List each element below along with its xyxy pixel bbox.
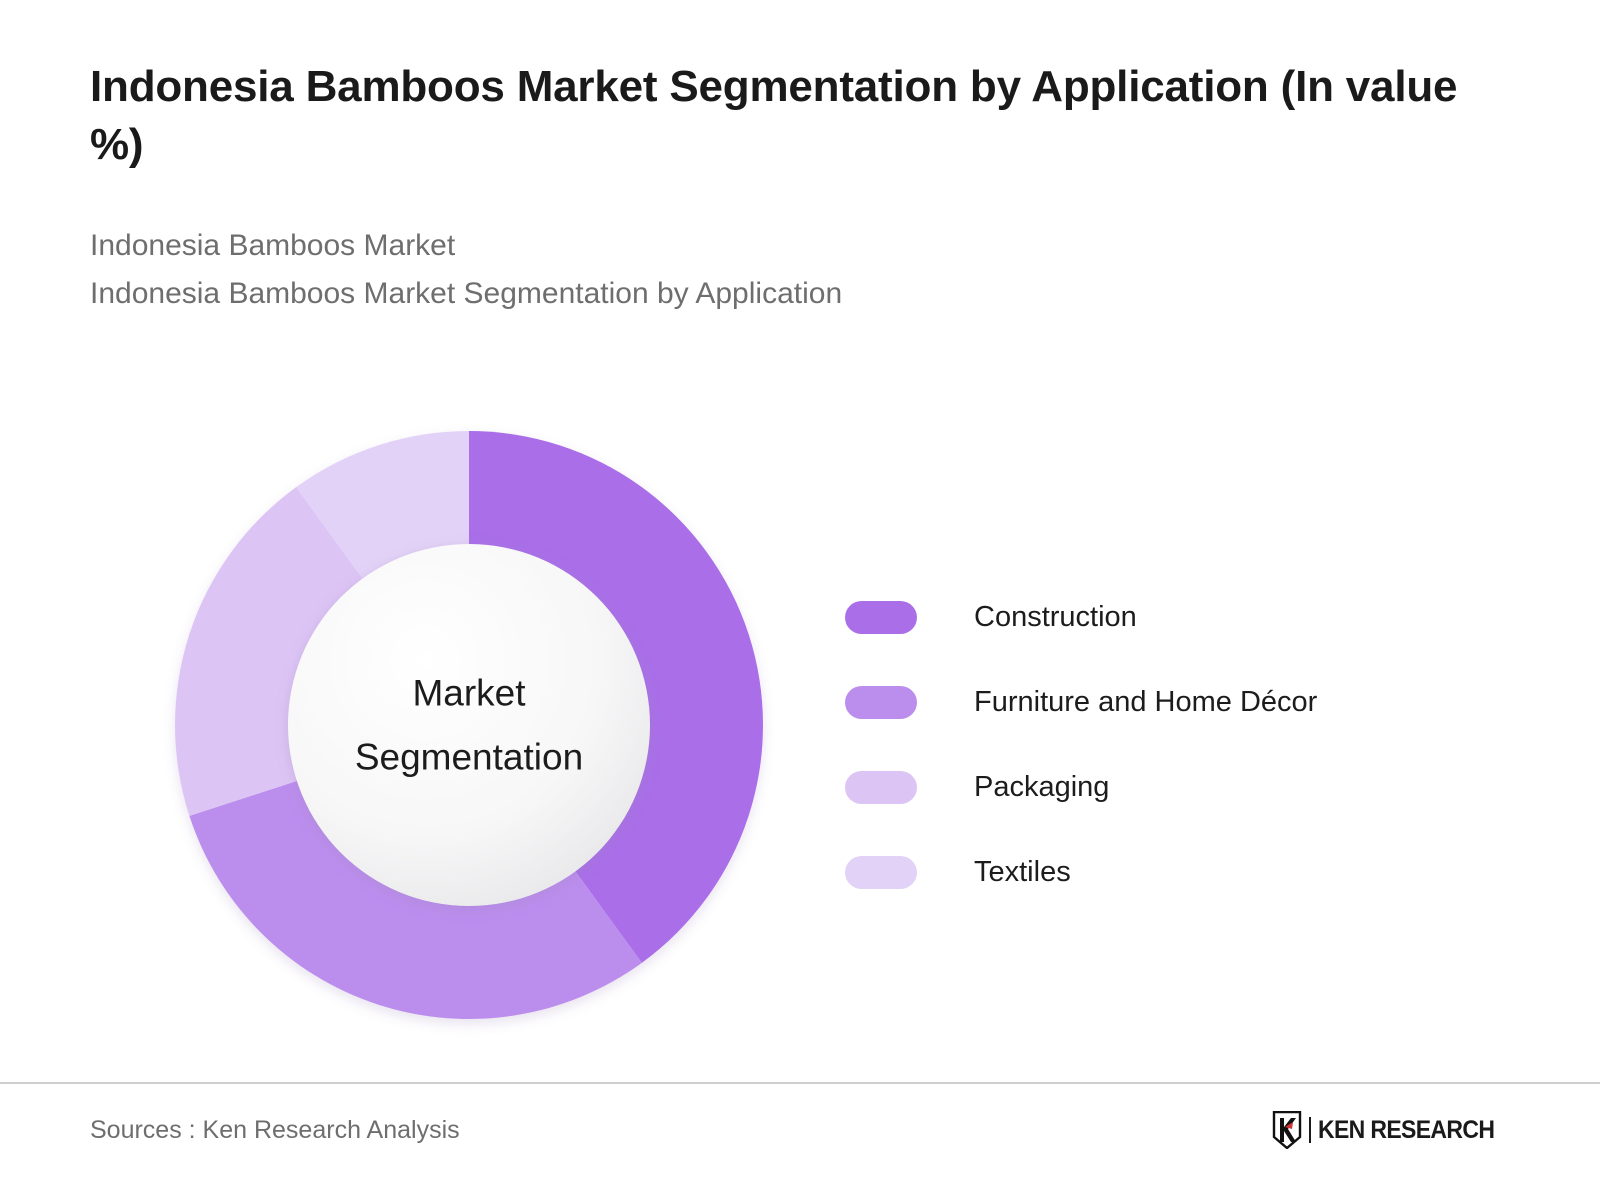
footer-divider <box>0 1082 1600 1084</box>
ken-research-shield-icon <box>1272 1111 1302 1149</box>
chart-legend: ConstructionFurniture and Home DécorPack… <box>845 575 1485 915</box>
slide-canvas: Indonesia Bamboos Market Segmentation by… <box>0 0 1600 1200</box>
breadcrumb-line-2: Indonesia Bamboos Market Segmentation by… <box>90 270 1510 318</box>
brand-name: KEN RESEARCH <box>1318 1116 1494 1145</box>
legend-swatch <box>845 601 917 634</box>
breadcrumb: Indonesia Bamboos Market Indonesia Bambo… <box>90 222 1510 318</box>
footer: Sources : Ken Research Analysis KEN RESE… <box>90 1095 1510 1165</box>
page-title: Indonesia Bamboos Market Segmentation by… <box>90 58 1500 174</box>
legend-item[interactable]: Textiles <box>845 830 1485 915</box>
brand-logo: KEN RESEARCH <box>1272 1111 1510 1149</box>
legend-label: Textiles <box>974 856 1071 889</box>
legend-item[interactable]: Furniture and Home Décor <box>845 660 1485 745</box>
legend-item[interactable]: Construction <box>845 575 1485 660</box>
brand-divider <box>1309 1117 1311 1143</box>
breadcrumb-line-1: Indonesia Bamboos Market <box>90 222 1510 270</box>
legend-item[interactable]: Packaging <box>845 745 1485 830</box>
legend-label: Packaging <box>974 771 1109 804</box>
legend-swatch <box>845 856 917 889</box>
donut-center-hole <box>288 544 650 906</box>
donut-chart: Construction 40%Furniture and Home Décor… <box>175 431 763 1019</box>
legend-label: Construction <box>974 601 1137 634</box>
legend-swatch <box>845 686 917 719</box>
legend-swatch <box>845 771 917 804</box>
chart-area: Construction 40%Furniture and Home Décor… <box>0 400 1600 1060</box>
header: Indonesia Bamboos Market Segmentation by… <box>90 58 1510 318</box>
legend-label: Furniture and Home Décor <box>974 686 1317 719</box>
source-note: Sources : Ken Research Analysis <box>90 1116 460 1145</box>
donut-chart-svg: Construction 40%Furniture and Home Décor… <box>175 431 763 1019</box>
